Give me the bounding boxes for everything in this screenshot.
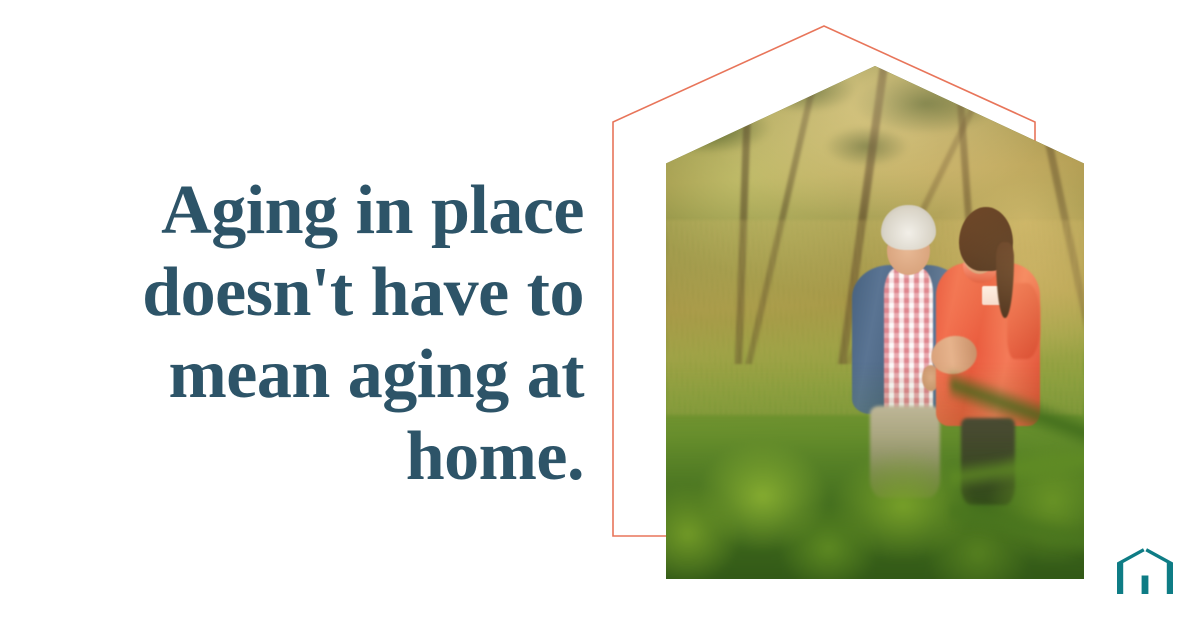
home-logo-icon <box>1114 546 1176 594</box>
hero-photo <box>666 66 1084 579</box>
elder-white-hair <box>881 205 935 251</box>
headline-block: Aging in placedoesn't have tomean aging … <box>60 170 584 498</box>
logo-roof-right <box>1145 548 1173 564</box>
logo-roof-left <box>1117 548 1145 564</box>
logo-post-right <box>1167 563 1173 595</box>
headline-line-1: Aging in place <box>161 172 584 249</box>
headline-line-2: doesn't have to <box>142 254 584 331</box>
headline-line-4: home. <box>406 418 584 495</box>
photo-foreground-blades <box>950 343 1084 579</box>
logo-post-left <box>1117 563 1123 595</box>
logo-door-post <box>1142 576 1149 595</box>
headline-line-3: mean aging at <box>169 336 585 413</box>
page-title: Aging in placedoesn't have tomean aging … <box>60 170 584 498</box>
marketing-banner: Aging in placedoesn't have tomean aging … <box>0 0 1200 630</box>
